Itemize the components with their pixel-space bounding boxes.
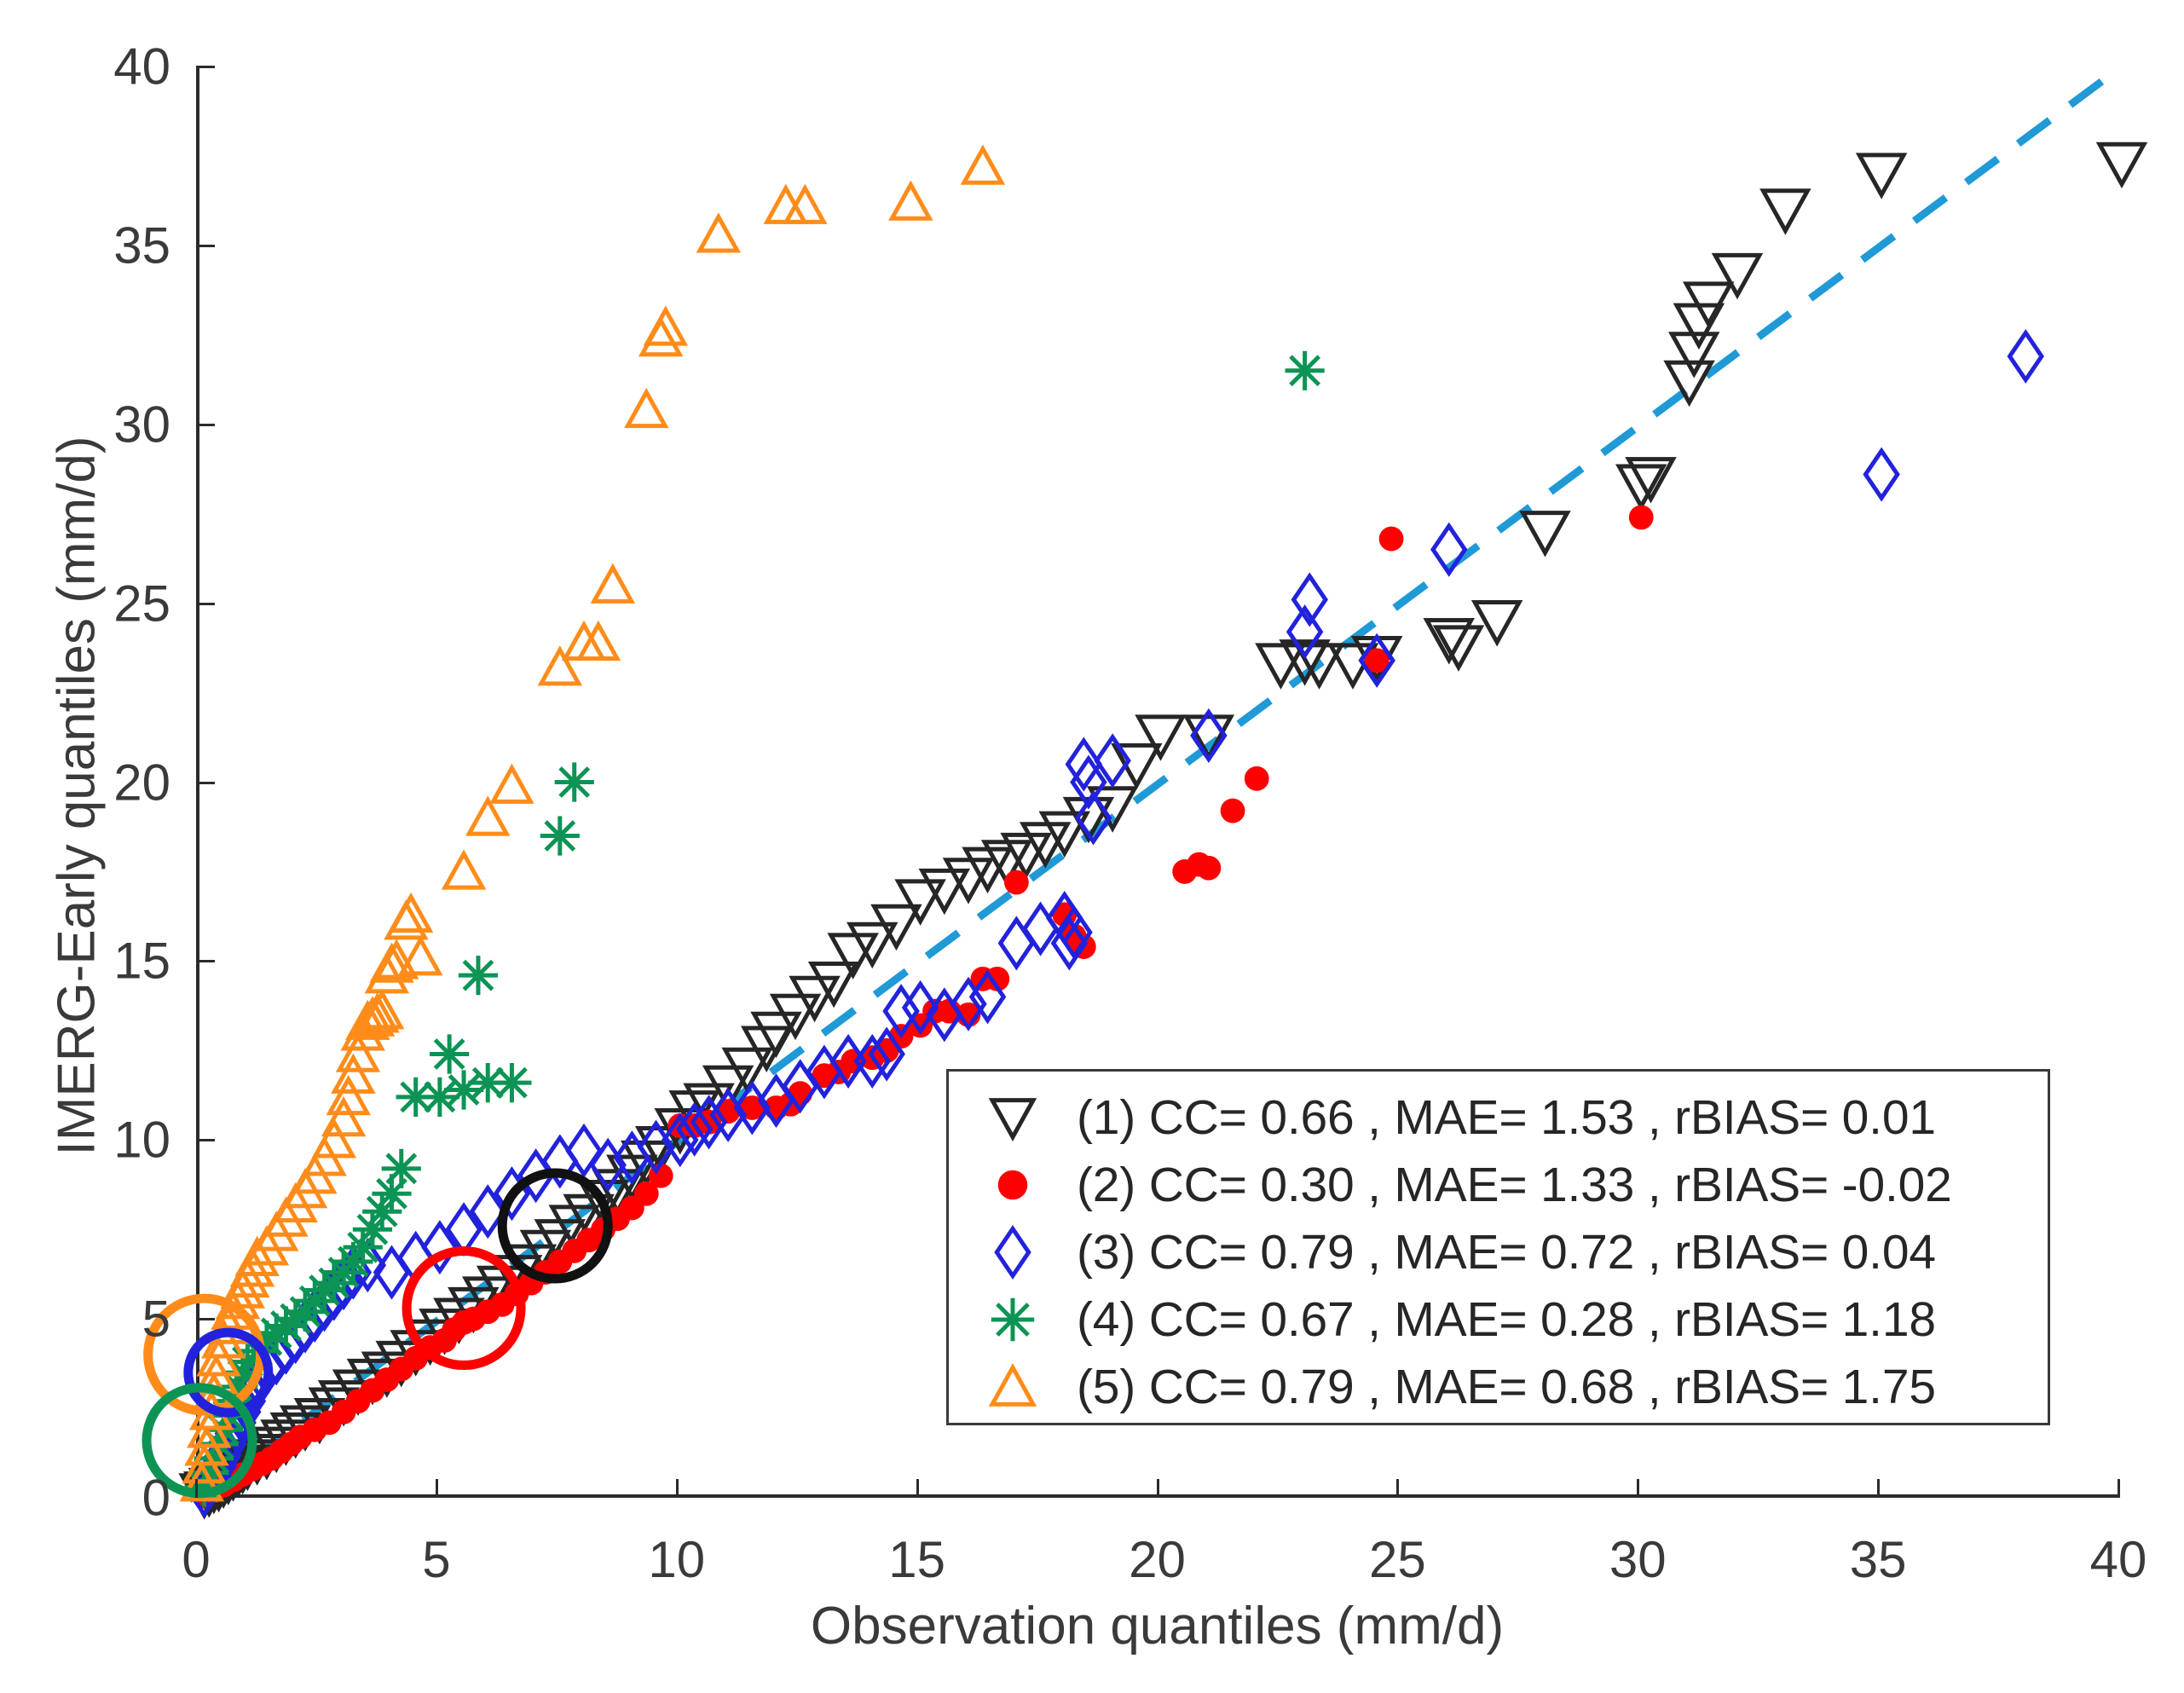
- y-tick-mark: [196, 1139, 215, 1141]
- legend-label: (5) CC= 0.79 , MAE= 0.68 , rBIAS= 1.75: [1077, 1359, 1936, 1415]
- legend-label: (1) CC= 0.66 , MAE= 1.53 , rBIAS= 0.01: [1077, 1089, 1936, 1146]
- x-tick-label: 30: [1609, 1530, 1667, 1589]
- legend-label: (2) CC= 0.30 , MAE= 1.33 , rBIAS= -0.02: [1077, 1157, 1952, 1213]
- y-tick-mark: [196, 424, 215, 426]
- legend-entry-2[interactable]: (2) CC= 0.30 , MAE= 1.33 , rBIAS= -0.02: [949, 1151, 2048, 1219]
- x-tick-mark: [436, 1479, 438, 1498]
- legend-marker-triangle-up-icon: [949, 1357, 1077, 1417]
- x-tick-label: 15: [888, 1530, 945, 1589]
- y-tick-label: 40: [68, 38, 170, 96]
- legend-marker-asterisk-icon: [949, 1290, 1077, 1349]
- x-tick-mark: [1637, 1479, 1639, 1498]
- legend-entry-5[interactable]: (5) CC= 0.79 , MAE= 0.68 , rBIAS= 1.75: [949, 1353, 2048, 1421]
- y-axis-title: IMERG-Early quantiles (mm/d): [47, 106, 107, 1487]
- x-tick-label: 0: [182, 1530, 210, 1589]
- legend-box: (1) CC= 0.66 , MAE= 1.53 , rBIAS= 0.01(2…: [946, 1069, 2050, 1425]
- y-tick-mark: [196, 1318, 215, 1320]
- legend-entry-1[interactable]: (1) CC= 0.66 , MAE= 1.53 , rBIAS= 0.01: [949, 1083, 2048, 1152]
- x-tick-mark: [1157, 1479, 1159, 1498]
- y-tick-mark: [196, 960, 215, 962]
- legend-marker-circle-filled-icon: [949, 1155, 1077, 1215]
- x-tick-label: 40: [2090, 1530, 2147, 1589]
- legend-entry-3[interactable]: (3) CC= 0.79 , MAE= 0.72 , rBIAS= 0.04: [949, 1218, 2048, 1286]
- x-tick-mark: [1877, 1479, 1880, 1498]
- legend-marker-diamond-icon: [949, 1222, 1077, 1282]
- legend-label: (3) CC= 0.79 , MAE= 0.72 , rBIAS= 0.04: [1077, 1224, 1936, 1280]
- x-tick-label: 25: [1369, 1530, 1426, 1589]
- y-tick-mark: [196, 603, 215, 605]
- x-tick-label: 5: [422, 1530, 450, 1589]
- x-tick-label: 20: [1129, 1530, 1186, 1589]
- y-tick-mark: [196, 782, 215, 784]
- x-axis-title: Observation quantiles (mm/d): [196, 1596, 2118, 1656]
- x-tick-label: 10: [648, 1530, 705, 1589]
- legend-entry-4[interactable]: (4) CC= 0.67 , MAE= 0.28 , rBIAS= 1.18: [949, 1286, 2048, 1354]
- x-tick-mark: [2118, 1479, 2120, 1498]
- x-tick-mark: [676, 1479, 679, 1498]
- legend-marker-triangle-down-icon: [949, 1088, 1077, 1147]
- x-tick-label: 35: [1850, 1530, 1907, 1589]
- qq-plot-figure: 0510152025303540 0510152025303540 Observ…: [0, 0, 2184, 1693]
- x-tick-mark: [916, 1479, 919, 1498]
- y-tick-mark: [196, 245, 215, 247]
- y-tick-mark: [196, 66, 215, 68]
- legend-label: (4) CC= 0.67 , MAE= 0.28 , rBIAS= 1.18: [1077, 1291, 1936, 1348]
- x-tick-mark: [1396, 1479, 1399, 1498]
- x-tick-mark: [195, 1479, 198, 1498]
